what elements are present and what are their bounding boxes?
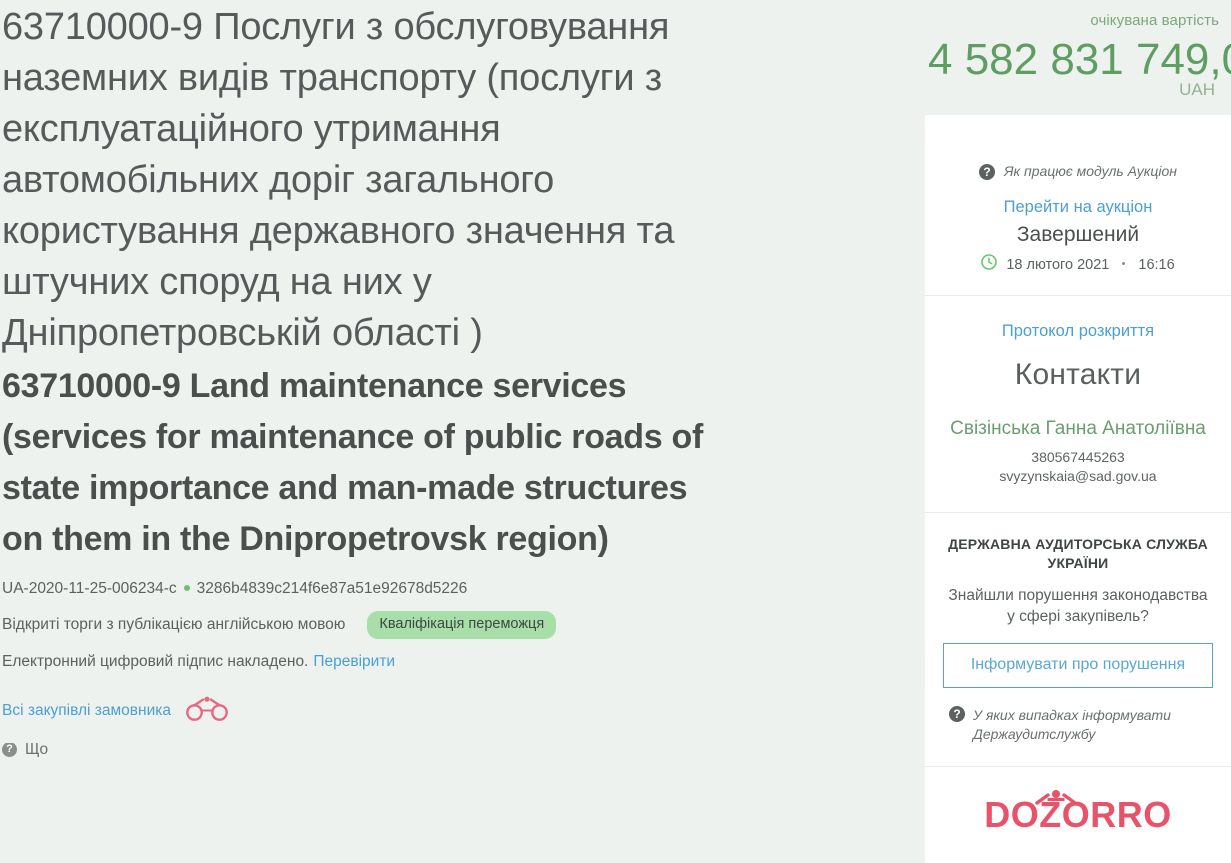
contact-email: svyzynskaia@sad.gov.ua (943, 467, 1213, 486)
auction-datetime-row: 18 лютого 2021 16:16 (943, 254, 1213, 275)
binoculars-icon[interactable] (185, 696, 229, 727)
audit-help-row[interactable]: ? У яких випадках інформувати Держаудитс… (943, 706, 1213, 744)
status-badge: Кваліфікація переможця (367, 611, 556, 639)
help-circle-icon: ? (979, 164, 995, 180)
audit-service-section: ДЕРЖАВНА АУДИТОРСЬКА СЛУЖБА УКРАЇНИ Знай… (925, 513, 1231, 766)
contacts-section: Протокол розкриття Контакти Свізінська Г… (925, 296, 1231, 512)
clipped-footer-text: Що (25, 743, 48, 757)
tender-id: UA-2020-11-25-006234-c (2, 579, 177, 598)
expected-value-label: очікувана вартість (920, 12, 1219, 30)
dozorro-logo-icon[interactable]: DOZORRO (943, 787, 1213, 838)
auction-section: ? Як працює модуль Аукціон Перейти на ау… (925, 115, 1231, 295)
tender-main-column: 63710000-9 Послуги з обслуговування назе… (0, 0, 905, 757)
all-purchases-row: Всі закупівлі замовника (2, 696, 897, 727)
dot-separator-icon (1122, 262, 1125, 265)
audit-org-name: ДЕРЖАВНА АУДИТОРСЬКА СЛУЖБА УКРАЇНИ (943, 535, 1213, 573)
tender-page: 63710000-9 Послуги з обслуговування назе… (0, 0, 1231, 863)
clipped-footer-row: ? Що (2, 743, 897, 757)
expected-value-amount: 4 582 831 749,00 (928, 32, 1227, 88)
dozorro-section: DOZORRO (925, 767, 1231, 838)
audit-help-label: У яких випадках інформувати Держаудитслу… (973, 706, 1213, 744)
all-purchases-link[interactable]: Всі закупівлі замовника (2, 702, 171, 720)
help-circle-icon: ? (949, 706, 965, 722)
auction-howto-row[interactable]: ? Як працює модуль Аукціон (943, 163, 1213, 180)
clock-icon (981, 254, 997, 275)
procedure-row: Відкриті торги з публікацією англійською… (2, 611, 897, 639)
bullet-separator-icon (184, 585, 190, 591)
auction-date: 18 лютого 2021 (1006, 256, 1109, 274)
auction-status: Завершений (943, 221, 1213, 248)
tender-title-english: 63710000-9 Land maintenance services (se… (2, 359, 732, 565)
procedure-type: Відкриті торги з публікацією англійською… (2, 615, 345, 634)
tender-title-ukrainian: 63710000-9 Послуги з обслуговування назе… (2, 0, 742, 359)
contact-phone: 380567445263 (943, 448, 1213, 467)
tender-identifiers-row: UA-2020-11-25-006234-c 3286b4839c214f6e8… (2, 579, 897, 598)
tender-sidebar: очікувана вартість 4 582 831 749,00 UAH … (920, 0, 1231, 98)
svg-text:DOZORRO: DOZORRO (984, 794, 1172, 833)
signature-row: Електронний цифровий підпис накладено. П… (2, 652, 897, 671)
tender-meta-block: UA-2020-11-25-006234-c 3286b4839c214f6e8… (2, 579, 897, 671)
go-to-auction-link[interactable]: Перейти на аукціон (943, 196, 1213, 218)
tender-hash: 3286b4839c214f6e87a51e92678d5226 (197, 579, 468, 598)
verify-signature-link[interactable]: Перевірити (313, 652, 395, 671)
auction-time: 16:16 (1138, 256, 1174, 274)
opening-protocol-link[interactable]: Протокол розкриття (943, 320, 1213, 342)
expected-value-block: очікувана вартість 4 582 831 749,00 UAH (920, 0, 1231, 98)
auction-howto-label: Як працює модуль Аукціон (1004, 163, 1177, 180)
report-violation-button[interactable]: Інформувати про порушення (943, 643, 1213, 688)
signature-text: Електронний цифровий підпис накладено. (2, 652, 308, 671)
question-mark-icon: ? (2, 743, 17, 757)
contacts-heading: Контакти (943, 356, 1213, 394)
contact-person-name: Свізінська Ганна Анатоліївна (943, 416, 1213, 442)
sidebar-card: ? Як працює модуль Аукціон Перейти на ау… (925, 115, 1231, 863)
audit-question-text: Знайшли порушення законодавства у сфері … (943, 585, 1213, 627)
